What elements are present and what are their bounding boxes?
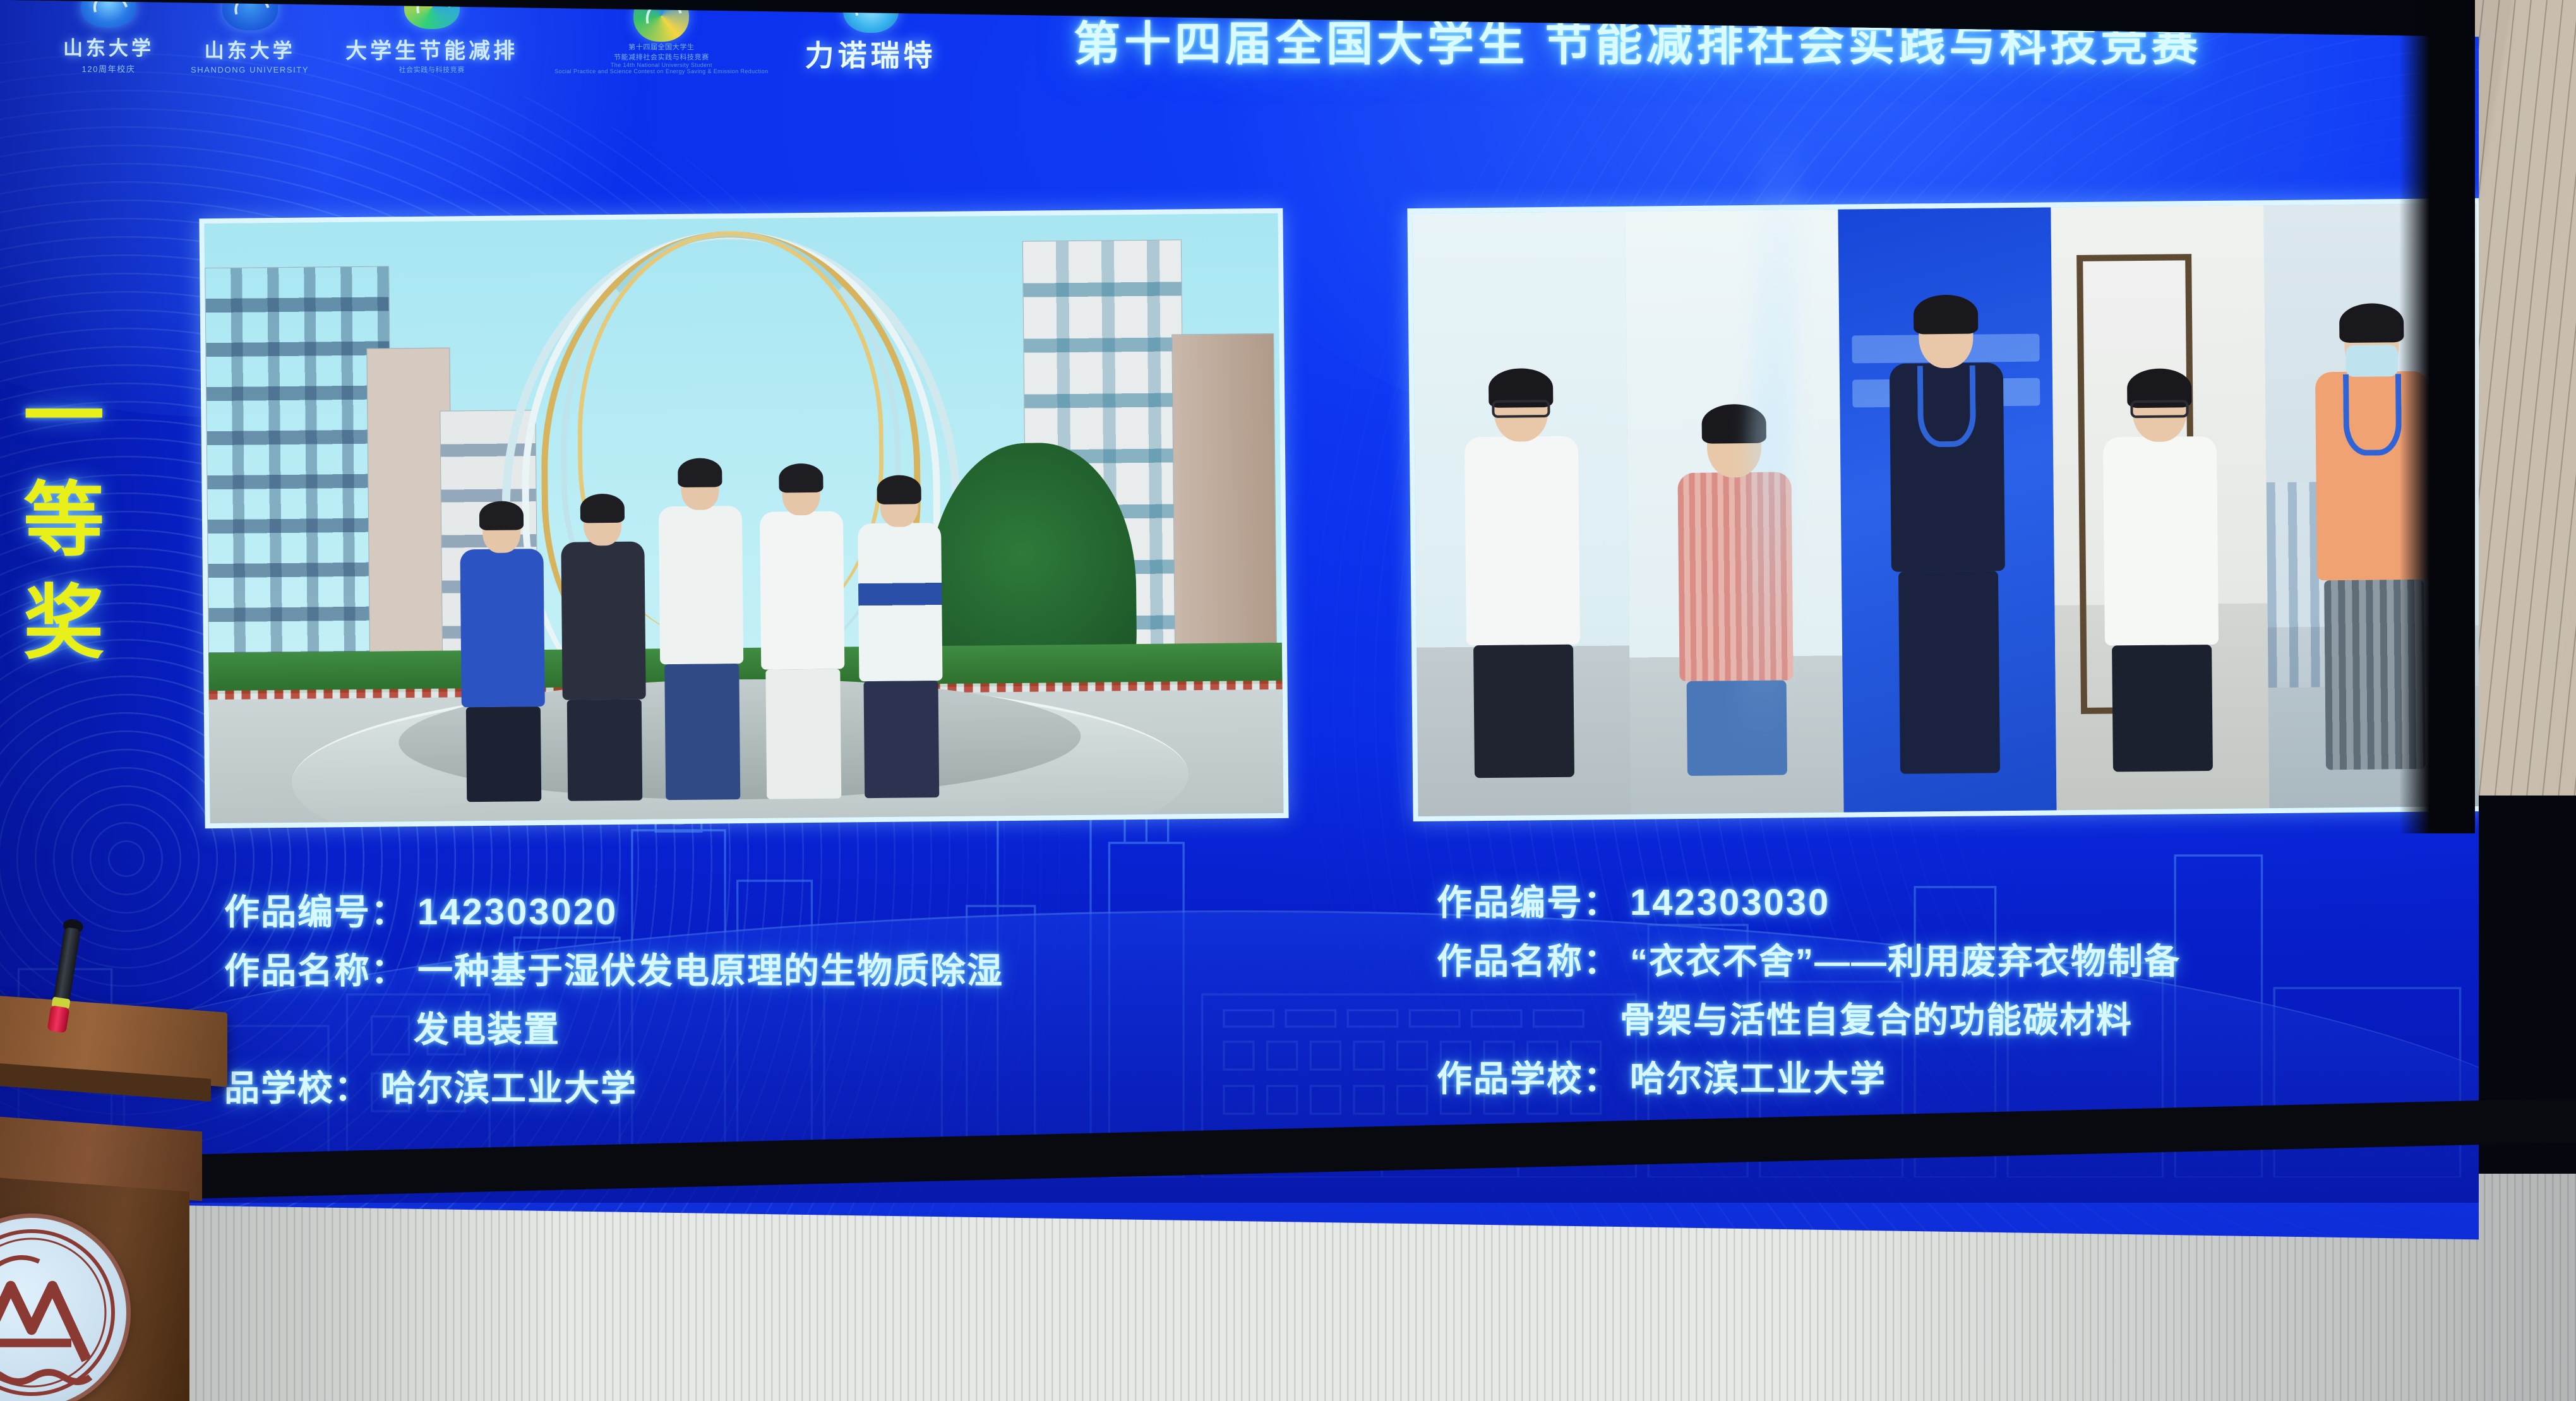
logo-shandong-university: 山东大学 SHANDONG UNIVERSITY (191, 0, 309, 75)
entry-photo-left (199, 208, 1288, 828)
caption-row-title-right: 作品名称： “衣衣不舍”——利用废弃衣物制备 (1437, 933, 2181, 984)
caption-label-number-right: 作品编号： (1437, 874, 1620, 926)
entry-caption-right: 作品编号： 142303030 作品名称： “衣衣不舍”——利用废弃衣物制备 骨… (1437, 874, 2181, 1109)
shandong-university-logo-icon (222, 0, 278, 30)
caption-row-number-right: 作品编号： 142303030 (1437, 874, 2181, 926)
caption-row-title-left-line2: 发电装置 (224, 1001, 1003, 1052)
led-stage-screen: 山东大学 120周年校庆 山东大学 SHANDONG UNIVERSITY 大学… (0, 0, 2479, 1239)
award-grade-label: 一 等 奖 (10, 379, 117, 662)
team-group-photo-campus (204, 213, 1283, 823)
logo-shandong-university-anniversary: 山东大学 120周年校庆 (63, 0, 154, 75)
caption-value-school-left: 哈尔滨工业大学 (381, 1060, 637, 1111)
portrait-strip-1 (1412, 212, 1631, 816)
logo-competition-emblem: 第十四届全国大学生 节能减排社会实践与科技竞赛 The 14th Nationa… (554, 0, 768, 75)
right-wall-slats (2469, 0, 2576, 796)
caption-label-school-right: 作品学校： (1437, 1051, 1620, 1102)
entry-photo-right (1407, 198, 2479, 821)
logo-en-0: 120周年校庆 (82, 63, 136, 75)
award-char-0: 一 (23, 379, 104, 456)
caption-row-school-left: 品学校： 哈尔滨工业大学 (224, 1060, 1003, 1111)
logo-cn2-3: 节能减排社会实践与科技竞赛 (614, 52, 709, 62)
logo-cn-2: 大学生节能减排 (345, 33, 518, 64)
caption-row-number-left: 作品编号： 142303020 (224, 884, 1003, 935)
logo-cn-3: 第十四届全国大学生 (628, 42, 694, 52)
caption-row-title-right-line2: 骨架与活性自复合的功能碳材料 (1437, 992, 2181, 1043)
right-dark-gap (2399, 0, 2475, 833)
logo-energy-saving-competition: 大学生节能减排 社会实践与科技竞赛 (345, 0, 518, 75)
caption-value-title-left: 一种基于湿伏发电原理的生物质除湿 (417, 943, 1003, 994)
caption-row-school-right: 作品学校： 哈尔滨工业大学 (1437, 1051, 2181, 1102)
caption-label-school-left: 品学校： (224, 1060, 371, 1111)
wooden-lectern (0, 1003, 240, 1401)
caption-value-school-right: 哈尔滨工业大学 (1630, 1051, 1886, 1102)
team-member-portrait-strips (1412, 203, 2479, 816)
caption-label-number-left: 作品编号： (224, 884, 407, 935)
microphone-red-tip (47, 1005, 70, 1033)
caption-value-title-right: “衣衣不舍”——利用废弃衣物制备 (1630, 933, 2181, 984)
logo-cn-1: 山东大学 (205, 35, 296, 63)
portrait-strip-2 (1625, 210, 1843, 814)
caption-value-number-left: 142303020 (417, 891, 618, 933)
logo-en-2: 社会实践与科技竞赛 (398, 64, 464, 75)
logo-cn-0: 山东大学 (63, 32, 154, 61)
entry-caption-left: 作品编号： 142303020 作品名称： 一种基于湿伏发电原理的生物质除湿 发… (224, 884, 1003, 1119)
logo-tiny-3: The 14th National University Student (611, 62, 712, 68)
portrait-strip-4 (2051, 205, 2269, 810)
caption-label-title-left: 作品名称： (224, 943, 407, 994)
award-char-1: 等 (23, 482, 104, 559)
caption-value-title-left-line2: 发电装置 (414, 1001, 560, 1052)
logo-en-1: SHANDONG UNIVERSITY (191, 65, 309, 75)
caption-label-title-right: 作品名称： (1437, 933, 1620, 984)
caption-value-number-right: 142303030 (1630, 881, 1830, 924)
shandong-university-anniversary-logo-icon (81, 0, 136, 28)
award-char-2: 奖 (23, 585, 104, 662)
portrait-strip-3 (1838, 207, 2056, 812)
caption-row-title-left: 作品名称： 一种基于湿伏发电原理的生物质除湿 (224, 943, 1003, 994)
logo-cn-4: 力诺瑞特 (805, 33, 937, 75)
logo-tiny2-3: Social Practice and Science Contest on E… (554, 68, 768, 75)
photo-of-award-ceremony-screen: 山东大学 120周年校庆 山东大学 SHANDONG UNIVERSITY 大学… (0, 0, 2576, 1401)
caption-value-title-right-line2: 骨架与活性自复合的功能碳材料 (1620, 992, 2133, 1043)
